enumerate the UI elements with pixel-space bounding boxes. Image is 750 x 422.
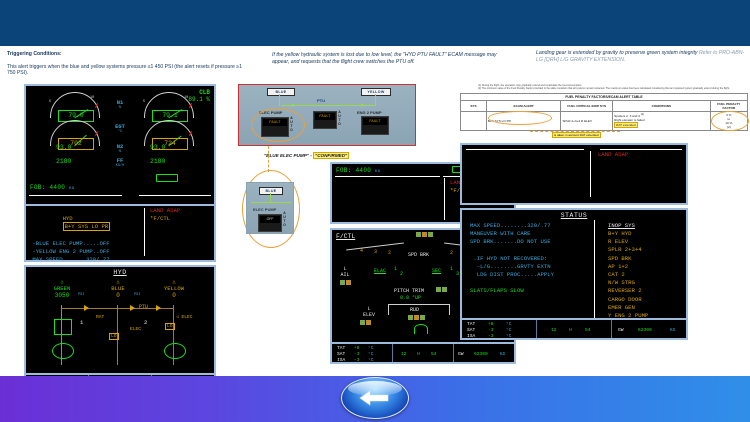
spoiler-left-2: 2 xyxy=(388,250,391,256)
highlight-ellipse-penalty xyxy=(711,111,749,131)
elac-2: 2 xyxy=(400,271,403,277)
hyd-elec-right-label: ◁ ELEC xyxy=(176,315,193,320)
table-header-row: SYS ECAM ALERT FUEL CRITICAL INOP SYS CO… xyxy=(461,100,748,111)
cell-inop-sys: SPLR 2+3+4 R ELEV xyxy=(561,111,613,130)
n1-gauge-engine-2: 5 10 79.1 xyxy=(144,92,194,120)
left-aileron-label: LAIL xyxy=(338,266,352,278)
inop-line-4: SPD BRK xyxy=(608,255,648,263)
hyd-eng-2-number: 2 xyxy=(144,319,147,326)
fob-label: FOB: xyxy=(30,184,46,191)
status-line-5: .IF HYD NOT RECOVERED: xyxy=(470,255,590,263)
isa-label-m: ISA xyxy=(337,358,345,363)
hyd-xfer-line-left xyxy=(61,308,117,309)
header-conditions: CONDITIONS xyxy=(613,100,711,111)
clock-block-right: 12 H 54 xyxy=(537,320,612,338)
highlight-ellipse-elec-pump xyxy=(251,108,305,142)
rudder-arc xyxy=(414,324,428,334)
hyd-yellow-label: YELLOW xyxy=(154,285,194,292)
inop-line-11: Y ENG 2 PUMP xyxy=(608,312,648,320)
sec-3: 3 xyxy=(456,271,459,277)
hyd-psi-unit-1: PSI xyxy=(78,293,84,297)
hyd-arrow-mid xyxy=(130,305,135,311)
ff-unit: KG/H xyxy=(106,164,134,168)
spd-brk-label: SPD BRK xyxy=(408,252,429,258)
warning-title-prefix: HYD xyxy=(63,215,73,222)
tat-value-m: +8 xyxy=(354,346,360,351)
isa-value-m: -3 xyxy=(354,358,360,363)
hyd-arrow-left xyxy=(84,305,89,311)
memo-land-asap: LAND ASAP xyxy=(150,207,180,215)
spoiler-left-4: 4 xyxy=(360,248,363,254)
tat-value-r: +8 xyxy=(488,322,494,327)
status-line-6: -L/G........GRVTY EXTN xyxy=(470,263,590,271)
hyd-yellow-value: 0 xyxy=(154,292,194,299)
sd-hyd-page: HYD △ GREEN 3050 △ BLUE 0 △ YELLOW 0 PSI… xyxy=(24,265,216,375)
fob-unit-mid: KG xyxy=(375,170,380,174)
back-button[interactable] xyxy=(341,377,409,419)
left-elevator-boxes xyxy=(360,320,371,325)
hyd-yellow-pump-circle xyxy=(164,343,186,359)
inop-line-6: CAT 2 xyxy=(608,271,648,279)
blue-section-label: BLUE xyxy=(267,88,295,96)
temp-block-mid: TAT +8 °C SAT -3 °C ISA -3 °C xyxy=(332,344,393,362)
gw-label-m: GW xyxy=(458,352,464,357)
pitch-trim-boxes xyxy=(436,287,447,292)
fob-row: FOB: 4400 KG xyxy=(30,184,74,191)
ptu-arrow-right xyxy=(361,103,364,107)
slide-page: Triggering Conditions: This alert trigge… xyxy=(0,0,750,422)
pitch-trim-label: PITCH TRIM xyxy=(394,288,424,294)
sat-label-m: SAT xyxy=(337,352,345,357)
highlight-ellipse-alert xyxy=(488,111,552,125)
ewd-mid-divider-left xyxy=(335,176,440,177)
table-footnote: is taken in account RAT extended xyxy=(552,132,601,138)
clock-hh-m: 12 xyxy=(401,352,407,357)
ewd-display-left: CLB 89.1 % 5 10 79.0 5 10 79.1 N1 % xyxy=(24,84,216,206)
eng2-pump-text-label: ENG 2 PUMP xyxy=(357,110,382,115)
triggering-conditions-heading: Triggering Conditions: xyxy=(7,51,245,58)
fuel-penalty-table: FUEL PENALTY FACTORS/ECAM ALERT TABLE SY… xyxy=(460,93,748,131)
caption-confirmed-text: "CONFIRMED" xyxy=(313,152,349,159)
hyd-ptu-label: PTU xyxy=(139,304,148,310)
sd-bottom-strip-right: TAT +8 °C SAT -3 °C ISA -3 °C 12 H 54 GW… xyxy=(460,320,688,340)
header-sys: SYS xyxy=(461,100,487,111)
sat-value-m: -3 xyxy=(354,352,360,357)
ewd-right-divider-right xyxy=(600,149,682,150)
spoiler-right-2: 2 xyxy=(450,250,453,256)
ewd-divider-right xyxy=(139,195,211,196)
ptu-button[interactable]: FAULT xyxy=(313,111,337,129)
status-line-4 xyxy=(470,246,590,254)
inop-line-5: AP 1+2 xyxy=(608,263,648,271)
inop-line-10: EMER GEN xyxy=(608,304,648,312)
hyd-page-title: HYD xyxy=(26,269,214,276)
ewd-right-divider-left xyxy=(466,149,584,150)
header-ecam-alert: ECAM ALERT xyxy=(486,100,561,111)
ewd-mid-memo-divider xyxy=(444,178,445,220)
elac-label: ELAC xyxy=(374,268,386,274)
sd-status-page: STATUS MAX SPEED........320/.77 MANEUVER… xyxy=(460,208,688,320)
table-row: B+Y SYS LO PR SPLR 2+3+4 R ELEV Spoilers… xyxy=(461,111,748,130)
zoom-blue-elec-pump-button[interactable]: OFF xyxy=(258,214,282,232)
rudder-label: RUD xyxy=(410,307,419,313)
table-title-row: FUEL PENALTY FACTORS/ECAM ALERT TABLE xyxy=(461,93,748,100)
ff-value-engine-1: 2180 xyxy=(56,158,71,165)
hyd-elec-label: ELEC xyxy=(130,327,141,332)
overhead-panel-zoom: BLUE ELEC PUMP OFF AUTO xyxy=(246,182,294,234)
memo-fctl: *F/CTL xyxy=(150,215,180,223)
inop-sys-title: INOP SYS xyxy=(608,222,648,230)
hyd-arrow-right xyxy=(156,305,161,311)
zoom-blue-elec-pump-off-light: OFF xyxy=(260,216,280,223)
n1-gauge-engine-1: 5 10 79.0 xyxy=(50,92,100,120)
warning-title-boxed: B+Y SYS LO PR xyxy=(63,222,111,231)
hyd-blue-value: 0 xyxy=(98,292,138,299)
status-page-title: STATUS xyxy=(462,212,686,219)
ff-value-engine-2: 2180 xyxy=(150,158,165,165)
gw-unit-m: KG xyxy=(500,352,506,357)
yellow-eng2-pump-button[interactable]: FAULT xyxy=(361,116,389,135)
tat-label-r: TAT xyxy=(467,322,475,327)
n2-value-engine-1: 93.0 xyxy=(56,144,71,151)
status-line-1: MAX SPEED........320/.77 xyxy=(470,222,590,230)
table-footnote-row: is taken in account RAT extended xyxy=(460,131,748,139)
isa-value-r: -3 xyxy=(488,334,494,339)
rudder-boxes xyxy=(408,315,425,320)
triggering-conditions-body: This alert triggers when the blue and ye… xyxy=(7,64,245,77)
ptu-arrow-left xyxy=(291,103,294,107)
sec-label: SEC xyxy=(432,268,441,274)
gravity-extension-text: Landing gear is extended by gravity to p… xyxy=(536,50,697,56)
ptu-fault-note: If the yellow hydraulic system is lost d… xyxy=(272,52,515,66)
temp-block-right: TAT +8 °C SAT -3 °C ISA -3 °C xyxy=(462,320,537,338)
inop-line-3: SPLR 2+3+4 xyxy=(608,246,648,254)
hyd-green-label: GREEN xyxy=(42,285,82,292)
thrust-mode-label: CLB xyxy=(199,89,210,96)
fob-unit: KG xyxy=(69,187,74,191)
warning-line-2: -YELLOW ENG 2 PUMP..OFF xyxy=(29,248,141,256)
ewd-warning-area-left: HYD B+Y SYS LO PR -BLUE ELEC PUMP.....OF… xyxy=(24,206,216,262)
inop-line-8: REVERSER 2 xyxy=(608,287,648,295)
warning-line-3: MAX SPEED.......320/.77 xyxy=(29,256,141,262)
gw-block-mid: GW 62300 KG xyxy=(454,344,514,362)
ptu-text-label: PTU xyxy=(317,98,325,103)
clock-sep-r: H xyxy=(569,328,572,333)
ewd-memo-divider xyxy=(144,208,145,256)
egt-unit: °C xyxy=(106,130,134,134)
tat-unit-r: °C xyxy=(506,322,512,327)
header-inop-sys: FUEL CRITICAL INOP SYS xyxy=(561,100,613,111)
cell-sys xyxy=(461,111,487,130)
hyd-eng-1-number: 1 xyxy=(80,319,83,326)
status-line-3: SPD BRK.......DO NOT USE xyxy=(470,238,590,246)
hyd-green-pump-circle xyxy=(52,343,74,359)
yellow-green-vline xyxy=(375,94,376,106)
clock-mm-r: 54 xyxy=(585,328,591,333)
n2-value-engine-2: 93.0 xyxy=(150,144,165,151)
sec-1: 1 xyxy=(450,266,453,272)
zoom-connector-line xyxy=(268,146,269,172)
memo-land-asap-right: LAND ASAP xyxy=(598,151,628,159)
intro-text-row: Triggering Conditions: This alert trigge… xyxy=(0,46,750,84)
back-arrow-icon xyxy=(356,389,396,407)
yellow-eng2-pump-fault-light: FAULT xyxy=(363,118,387,125)
hyd-system-yellow: △ YELLOW 0 xyxy=(154,279,194,299)
fob-value: 4400 xyxy=(50,184,66,191)
status-line-7: LDG DIST PROC.....APPLY xyxy=(470,271,590,279)
status-line-8 xyxy=(470,279,590,287)
warning-line-1: -BLUE ELEC PUMP.....OFF xyxy=(29,240,141,248)
cell-conditions: Spoilers 2, 3 and 4 (2) Right elevator i… xyxy=(613,111,711,130)
ewd-divider-left xyxy=(29,195,122,196)
ptu-fault-light: FAULT xyxy=(315,113,335,120)
hyd-psi-unit-2: PSI xyxy=(134,293,140,297)
clock-mm-m: 54 xyxy=(431,352,437,357)
fctl-page-title: F/CTL xyxy=(336,233,355,240)
n1-tick-5-e2: 5 xyxy=(143,100,145,104)
isa-unit-r: °C xyxy=(506,334,512,339)
status-line-2: MANEUVER WITH CARE xyxy=(470,230,590,238)
hyd-yellow-lo-box: LO xyxy=(165,323,175,330)
hyd-green-reservoir-box xyxy=(54,319,72,335)
hyd-blue-lo-box: LO xyxy=(109,333,119,340)
hyd-blue-label: BLUE xyxy=(98,285,138,292)
n1-tick-10-e2: 10 xyxy=(184,96,188,100)
warning-title-row: HYD B+Y SYS LO PR xyxy=(29,207,141,240)
gw-block-right: GW 62300 KG xyxy=(612,320,686,338)
status-divider xyxy=(594,220,595,318)
status-line-9: SLATS/FLAPS SLOW xyxy=(470,287,590,295)
column-right: (1) During the flight, the operators may… xyxy=(460,84,748,340)
inop-line-2: R ELEV xyxy=(608,238,648,246)
sat-value-r: -3 xyxy=(488,328,494,333)
table-note-2: (2) The minimum value of the Fuel Penalt… xyxy=(478,87,748,90)
column-left: CLB 89.1 % 5 10 79.0 5 10 79.1 N1 % xyxy=(24,84,216,395)
condition-rat-extended: RAT extended xyxy=(614,122,638,128)
fuel-penalty-table-title: FUEL PENALTY FACTORS/ECAM ALERT TABLE xyxy=(461,93,748,100)
zoom-elec-pump-label: ELEC PUMP xyxy=(253,207,276,212)
clock-hh-r: 12 xyxy=(551,328,557,333)
gw-unit-r: KG xyxy=(670,328,676,333)
gravity-extension-note: Landing gear is extended by gravity to p… xyxy=(536,50,746,64)
overhead-panel-photo: BLUE YELLOW PTU ELEC PUMP FAULT AUTO FAU… xyxy=(238,84,416,146)
inop-line-9: CARGO DOOR xyxy=(608,296,648,304)
isa-label-r: ISA xyxy=(467,334,475,339)
cell-ecam-alert: B+Y SYS LO PR xyxy=(486,111,561,130)
inop-line-1: B+Y HYD xyxy=(608,230,648,238)
condition-footnote-mark: (2) xyxy=(641,113,644,116)
tat-unit-m: °C xyxy=(368,346,374,351)
left-elevator-label: LELEV xyxy=(360,306,378,318)
zoom-green-hline xyxy=(251,202,291,203)
clock-sep-m: H xyxy=(417,352,420,357)
caption-call-text: "BLUE ELEC PUMP" xyxy=(264,153,309,158)
fob-value-mid: 4400 xyxy=(356,167,372,174)
header-penalty-factor: FUEL PENALTY FACTOR xyxy=(710,100,747,111)
left-aileron-boxes xyxy=(340,280,351,285)
top-header-bar xyxy=(0,0,750,46)
inop-line-7: N/W STRG xyxy=(608,279,648,287)
gw-value-r: 62300 xyxy=(638,328,652,333)
hyd-green-value: 3050 xyxy=(42,292,82,299)
cell-penalty-factor: 3 % to 10 % (2) xyxy=(710,111,747,130)
pitch-trim-value: 0.8 °UP xyxy=(400,295,421,301)
caption-dash: - xyxy=(310,153,312,158)
n2-unit: % xyxy=(106,150,134,154)
gw-value-m: 62300 xyxy=(474,352,488,357)
clock-block-mid: 12 H 54 xyxy=(393,344,454,362)
fob-label-mid: FOB: xyxy=(336,167,352,174)
fob-row-mid: FOB: 4400 KG xyxy=(336,167,380,174)
triggering-conditions-block: Triggering Conditions: This alert trigge… xyxy=(7,51,245,77)
n1-unit: % xyxy=(106,106,134,110)
elac-1: 1 xyxy=(394,266,397,272)
sat-unit-r: °C xyxy=(506,328,512,333)
slats-flaps-indicator xyxy=(156,174,178,182)
ptu-auto-text: AUTO xyxy=(337,110,342,126)
spd-brk-indicator-boxes xyxy=(416,232,433,237)
n1-tick-10-e1: 10 xyxy=(90,96,94,100)
callout-caption: "BLUE ELEC PUMP" - "CONFIRMED" xyxy=(264,153,349,158)
isa-unit-m: °C xyxy=(368,358,374,363)
zoom-auto-text: AUTO xyxy=(282,211,287,227)
n1-tick-5-e1: 5 xyxy=(49,100,51,104)
hyd-system-green: △ GREEN 3050 xyxy=(42,279,82,299)
hyd-rat-label: RAT xyxy=(96,315,104,320)
sat-label-r: SAT xyxy=(467,328,475,333)
spoiler-left-3: 3 xyxy=(374,249,377,255)
gw-label-r: GW xyxy=(618,328,624,333)
hyd-system-blue: △ BLUE 0 xyxy=(98,279,138,299)
ewd-display-right: LAND ASAP xyxy=(460,143,688,205)
tat-label-m: TAT xyxy=(337,346,345,351)
sd-bottom-strip-middle: TAT +8 °C SAT -3 °C ISA -3 °C 12 H 54 GW… xyxy=(330,344,516,364)
ewd-right-memo-divider xyxy=(590,151,591,197)
sat-unit-m: °C xyxy=(368,352,374,357)
